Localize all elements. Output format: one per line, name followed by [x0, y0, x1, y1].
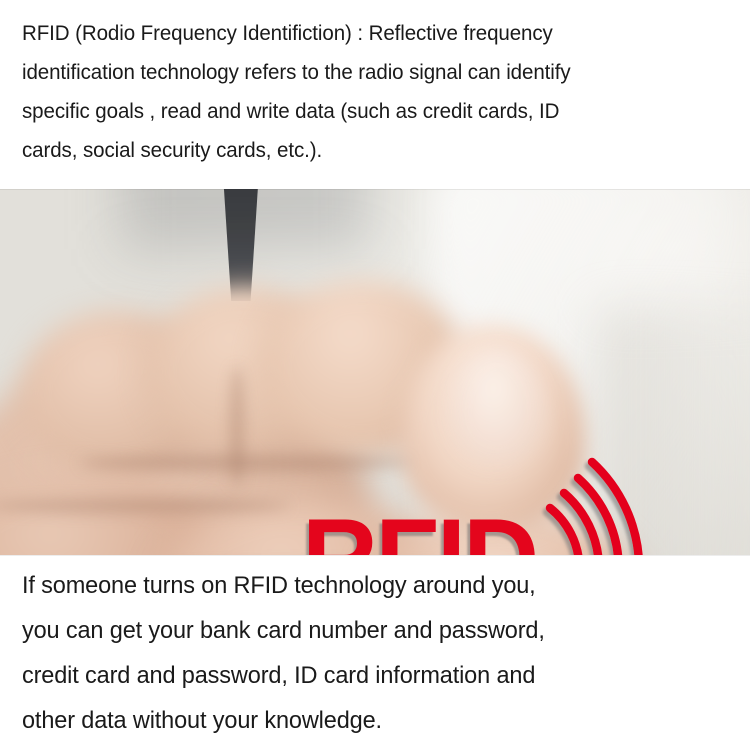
rfid-infographic-page: RFID (Rodio Frequency Identifiction) : R… [0, 0, 750, 750]
rfid-hand-photo: RFID [0, 189, 750, 555]
warning-text-block: If someone turns on RFID technology arou… [1, 563, 721, 743]
warning-line-3: credit card and password, ID card inform… [22, 653, 698, 698]
hand-crease-1 [80, 455, 410, 471]
intro-text-block: RFID (Rodio Frequency Identifiction) : R… [1, 14, 717, 170]
warning-line-1: If someone turns on RFID technology arou… [22, 563, 698, 608]
intro-line-1: RFID (Rodio Frequency Identifiction) : R… [22, 14, 694, 53]
intro-line-4: cards, social security cards, etc.). [22, 131, 694, 170]
photo-hand [0, 247, 630, 555]
hand-crease-2 [0, 499, 290, 513]
warning-line-2: you can get your bank card number and pa… [22, 608, 698, 653]
warning-line-4: other data without your knowledge. [22, 698, 698, 743]
intro-line-2: identification technology refers to the … [22, 53, 694, 92]
photo-bottom-divider [0, 555, 750, 556]
hand-crease-4 [230, 367, 244, 487]
photo-top-divider [0, 189, 750, 190]
intro-line-3: specific goals , read and write data (su… [22, 92, 694, 131]
